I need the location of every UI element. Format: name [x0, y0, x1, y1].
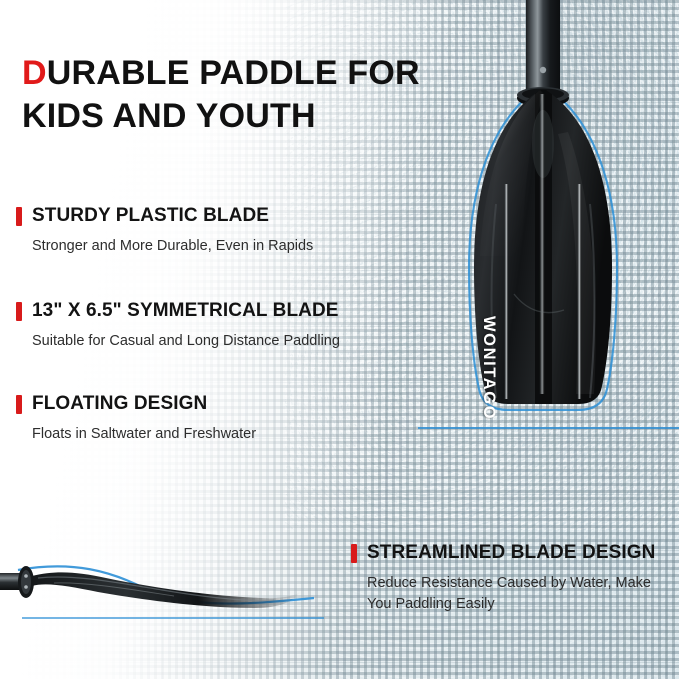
infographic-canvas: WONITAGO DURABLE PADDLE FOR KIDS AND YOU…	[0, 0, 679, 679]
feature-heading: 13" X 6.5" SYMMETRICAL BLADE	[16, 300, 340, 322]
feature-heading: STURDY PLASTIC BLADE	[16, 205, 313, 227]
shaft-button	[540, 67, 546, 73]
feature-description: Reduce Resistance Caused by Water, Make …	[367, 573, 667, 615]
feature-description: Floats in Saltwater and Freshwater	[32, 424, 256, 445]
headline-accent-letter: D	[22, 54, 47, 92]
feature-title: 13" X 6.5" SYMMETRICAL BLADE	[32, 300, 339, 322]
headline-line-2: KIDS AND YOUTH	[22, 97, 316, 135]
headline-line-1: URABLE PADDLE FOR	[47, 54, 420, 92]
feature-title: STURDY PLASTIC BLADE	[32, 205, 269, 227]
feature-item-floating-design: FLOATING DESIGN Floats in Saltwater and …	[16, 393, 256, 445]
feature-description: Suitable for Casual and Long Distance Pa…	[32, 331, 340, 352]
page-title: DURABLE PADDLE FOR KIDS AND YOUTH	[22, 52, 492, 138]
blade-profile-image	[0, 520, 354, 650]
red-bar-bullet-icon	[16, 302, 22, 321]
feature-description: Stronger and More Durable, Even in Rapid…	[32, 236, 313, 257]
brand-logo-text: WONITAGO	[479, 316, 498, 420]
paddle-shaft	[526, 0, 560, 102]
feature-heading: FLOATING DESIGN	[16, 393, 256, 415]
feature-item-sturdy-plastic-blade: STURDY PLASTIC BLADE Stronger and More D…	[16, 205, 313, 257]
feature-item-streamlined-blade-design: STREAMLINED BLADE DESIGN Reduce Resistan…	[351, 542, 667, 615]
feature-title: FLOATING DESIGN	[32, 393, 207, 415]
red-bar-bullet-icon	[16, 207, 22, 226]
feature-item-symmetrical-blade: 13" X 6.5" SYMMETRICAL BLADE Suitable fo…	[16, 300, 340, 352]
feature-heading: STREAMLINED BLADE DESIGN	[351, 542, 667, 564]
red-bar-bullet-icon	[16, 395, 22, 414]
feature-title: STREAMLINED BLADE DESIGN	[367, 542, 655, 564]
